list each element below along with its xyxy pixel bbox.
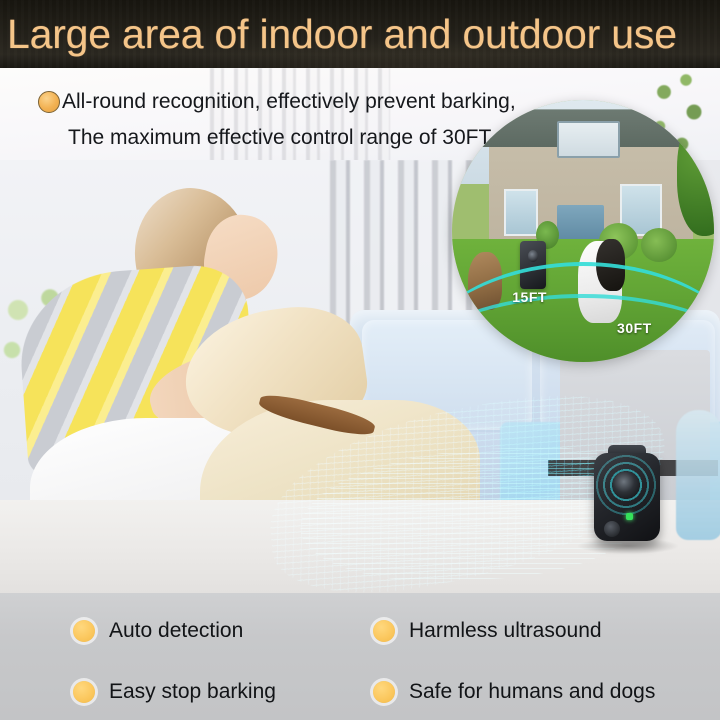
dot-icon <box>73 681 95 703</box>
feature-item-auto-detection: Auto detection <box>73 618 243 644</box>
page-title: Large area of indoor and outdoor use <box>7 5 719 63</box>
ultrasonic-bark-control-device <box>588 445 666 545</box>
feature-label: Auto detection <box>109 618 243 644</box>
outdoor-range-illustration: 15FT 30FT <box>452 100 714 362</box>
feature-item-harmless-ultrasound: Harmless ultrasound <box>373 618 602 644</box>
background-curtain-texture <box>210 68 390 172</box>
feature-label: Safe for humans and dogs <box>409 679 655 705</box>
subhead-line-1: All-round recognition, effectively preve… <box>62 88 516 116</box>
range-label-near: 15FT <box>512 289 547 305</box>
sound-wave-rings-icon <box>592 451 660 519</box>
subhead-line-2: The maximum effective control range of 3… <box>68 124 491 152</box>
product-feature-banner: Large area of indoor and outdoor use All… <box>0 0 720 720</box>
feature-item-easy-stop-barking: Easy stop barking <box>73 679 276 705</box>
filled-circle-bullet-icon <box>38 91 60 113</box>
inset-window-left <box>504 189 538 236</box>
device-control-knob <box>604 521 620 537</box>
header-bar: Large area of indoor and outdoor use <box>0 0 720 68</box>
range-label-far: 30FT <box>617 320 652 336</box>
dot-icon <box>373 681 395 703</box>
feature-item-safe-for-humans-and-dogs: Safe for humans and dogs <box>373 679 655 705</box>
inset-tree <box>677 110 714 236</box>
status-led-indicator <box>626 513 633 520</box>
inset-dormer-window <box>557 121 620 158</box>
inset-porch-railing <box>557 205 604 242</box>
decor-vase <box>676 410 720 540</box>
feature-label: Easy stop barking <box>109 679 276 705</box>
dot-icon <box>373 620 395 642</box>
dot-icon <box>73 620 95 642</box>
feature-label: Harmless ultrasound <box>409 618 602 644</box>
